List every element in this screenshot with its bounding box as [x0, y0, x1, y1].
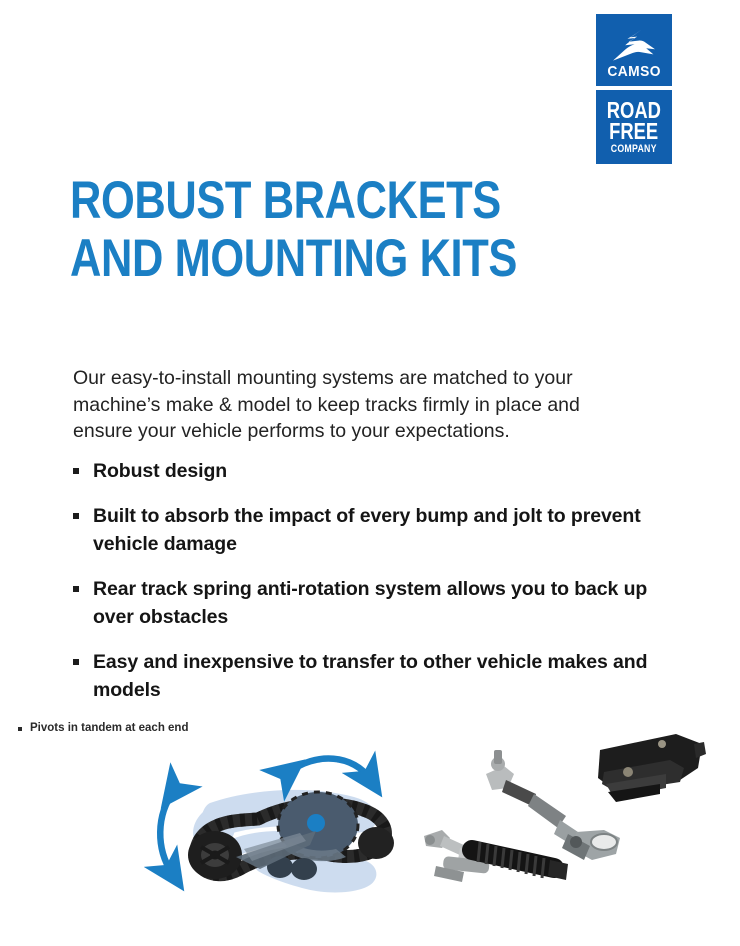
camso-tree-icon	[611, 28, 657, 62]
figure-caption-label: Pivots in tandem at each end	[30, 721, 188, 735]
mounting-hardware-photo	[408, 728, 708, 893]
list-item-label: Rear track spring anti-rotation system a…	[93, 575, 653, 631]
list-item: Easy and inexpensive to transfer to othe…	[73, 648, 653, 704]
rubber-track-pivot-illustration	[140, 745, 405, 920]
list-item-label: Robust design	[93, 457, 227, 485]
list-item: Built to absorb the impact of every bump…	[73, 502, 653, 558]
figure-caption: Pivots in tandem at each end	[18, 721, 188, 735]
square-bullet-icon	[18, 727, 22, 731]
square-bullet-icon	[73, 468, 79, 474]
page-title-line-1: ROBUST BRACKETS	[70, 172, 529, 230]
mounting-bracket-shape	[598, 734, 706, 802]
road-free-line-3: COMPANY	[611, 144, 657, 154]
intro-paragraph: Our easy-to-install mounting systems are…	[73, 365, 643, 445]
list-item: Rear track spring anti-rotation system a…	[73, 575, 653, 631]
page-title-line-2: AND MOUNTING KITS	[70, 230, 529, 288]
list-item-label: Built to absorb the impact of every bump…	[93, 502, 653, 558]
square-bullet-icon	[73, 659, 79, 665]
feature-bullet-list: Robust design Built to absorb the impact…	[73, 457, 653, 721]
camso-wordmark: CAMSO	[607, 64, 661, 79]
camso-logo: CAMSO	[596, 14, 672, 86]
list-item-label: Easy and inexpensive to transfer to othe…	[93, 648, 653, 704]
pivot-arrow-left-icon	[160, 791, 174, 873]
spring-damper-assembly-shape	[424, 830, 568, 882]
square-bullet-icon	[73, 586, 79, 592]
road-free-company-logo: ROAD FREE COMPANY	[596, 90, 672, 164]
pivot-arrow-top-icon	[288, 759, 370, 779]
list-item: Robust design	[73, 457, 653, 485]
page-title: ROBUST BRACKETS AND MOUNTING KITS	[70, 172, 630, 288]
road-free-line-2: FREE	[609, 121, 658, 142]
brand-logo-stack: CAMSO ROAD FREE COMPANY	[596, 14, 672, 164]
square-bullet-icon	[73, 513, 79, 519]
